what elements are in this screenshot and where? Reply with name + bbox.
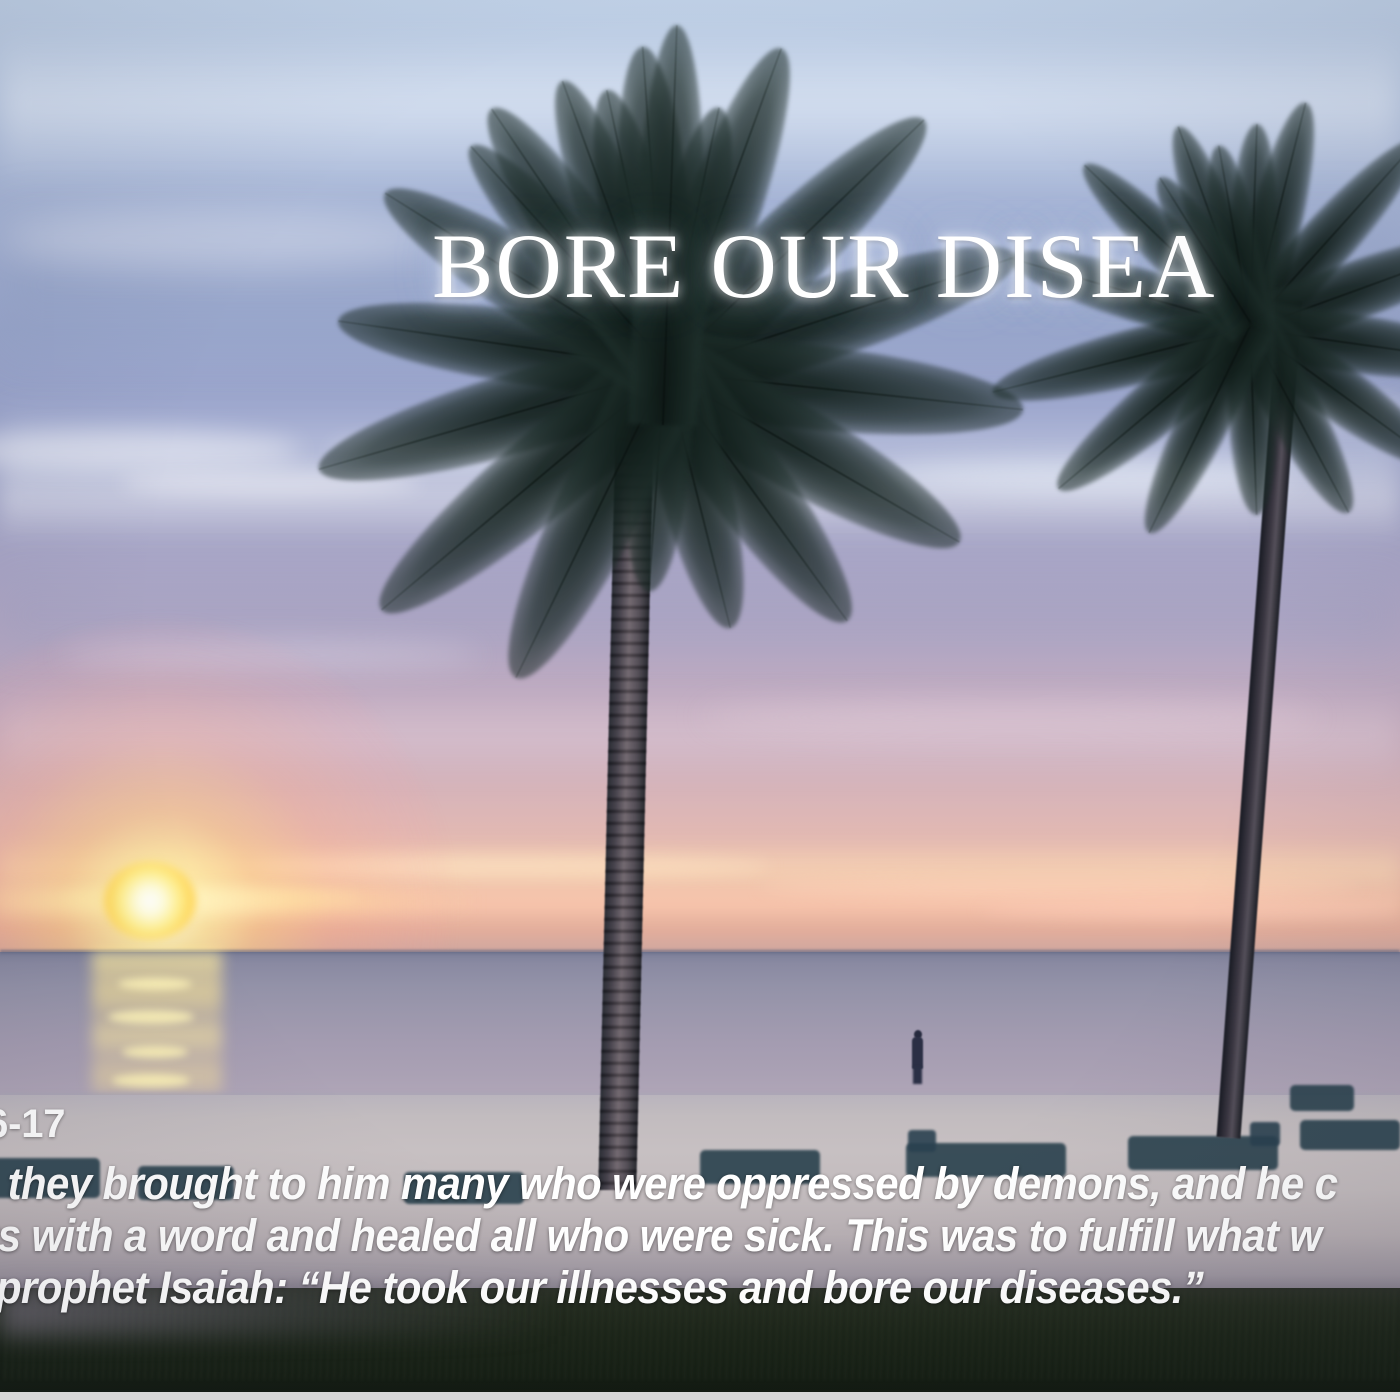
water-glint <box>112 1074 190 1087</box>
lone-figure-on-beach <box>912 1037 923 1069</box>
slide-title: Bore Our Disea <box>432 220 1216 312</box>
sun-ray-streak <box>0 888 480 914</box>
water-glint <box>118 978 192 990</box>
scripture-line: e spirits with a word and healed all who… <box>0 1210 1390 1262</box>
presentation-slide: Bore Our Disea ew 8:16-17 vening they br… <box>0 0 1400 1400</box>
scripture-body: vening they brought to him many who were… <box>0 1158 1390 1314</box>
scripture-line: vening they brought to him many who were… <box>0 1158 1390 1210</box>
lone-figure-on-beach <box>913 1066 922 1084</box>
scripture-block: ew 8:16-17 vening they brought to him ma… <box>0 1104 1400 1314</box>
palm-crown-knot <box>1222 282 1284 336</box>
water-glint <box>108 1010 194 1024</box>
water-glint <box>122 1046 188 1058</box>
scripture-reference: ew 8:16-17 <box>0 1104 1400 1144</box>
scripture-line: by the prophet Isaiah: “He took our illn… <box>0 1262 1390 1314</box>
slide-bottom-bar <box>0 1392 1400 1400</box>
setting-sun <box>104 862 196 940</box>
